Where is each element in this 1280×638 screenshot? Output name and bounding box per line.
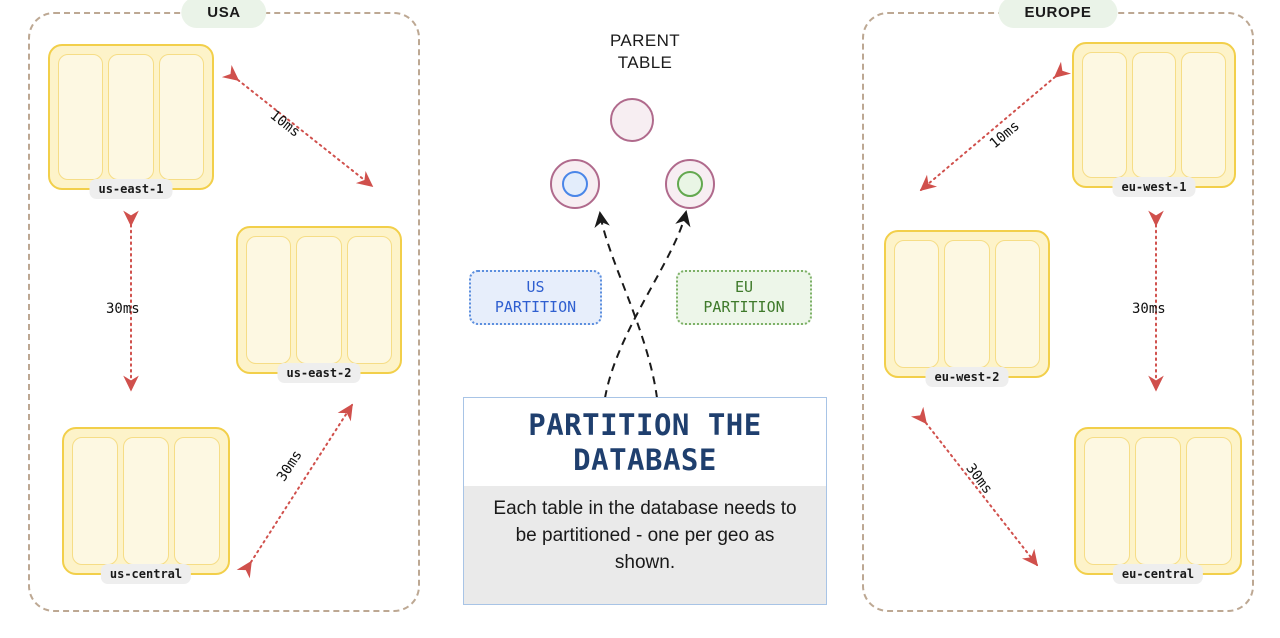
us-partition-node[interactable] (550, 159, 600, 209)
datacenter-label-us-east-1: us-east-1 (89, 179, 172, 199)
latency-label-eu-west-1--eu-central: 30ms (1132, 301, 1166, 317)
rack (123, 437, 169, 565)
rack (1084, 437, 1130, 565)
rack (995, 240, 1040, 368)
datacenter-us-east-2[interactable]: us-east-2 (236, 226, 402, 374)
callout-heading: PARTITION THE DATABASE (464, 398, 826, 486)
partition-arrow-us (600, 213, 657, 398)
rack (174, 437, 220, 565)
eu-partition-chip: EU PARTITION (676, 270, 812, 325)
rack (1135, 437, 1181, 565)
rack (1186, 437, 1232, 565)
datacenter-label-eu-central: eu-central (1113, 564, 1203, 584)
eu-partition-node[interactable] (665, 159, 715, 209)
callout-card: PARTITION THE DATABASE Each table in the… (463, 397, 827, 605)
datacenter-us-central[interactable]: us-central (62, 427, 230, 575)
callout-body: Each table in the database needs to be p… (464, 486, 826, 604)
rack (894, 240, 939, 368)
datacenter-eu-central[interactable]: eu-central (1074, 427, 1242, 575)
rack (246, 236, 291, 364)
region-label-europe: EUROPE (999, 0, 1118, 28)
parent-table-node[interactable] (610, 98, 654, 142)
region-label-usa: USA (181, 0, 266, 28)
rack (1132, 52, 1177, 178)
rack (347, 236, 392, 364)
partition-arrow-eu (605, 212, 686, 398)
rack (159, 54, 204, 180)
diagram-canvas: USA us-east-1 us-east-2 us-central EUROP… (0, 0, 1280, 638)
eu-partition-inner-circle (677, 171, 703, 197)
us-partition-inner-circle (562, 171, 588, 197)
rack (58, 54, 103, 180)
rack (1181, 52, 1226, 178)
rack (296, 236, 341, 364)
rack (944, 240, 989, 368)
datacenter-eu-west-2[interactable]: eu-west-2 (884, 230, 1050, 378)
datacenter-label-us-central: us-central (101, 564, 191, 584)
rack (108, 54, 153, 180)
datacenter-label-eu-west-1: eu-west-1 (1112, 177, 1195, 197)
rack (72, 437, 118, 565)
datacenter-us-east-1[interactable]: us-east-1 (48, 44, 214, 190)
datacenter-label-eu-west-2: eu-west-2 (925, 367, 1008, 387)
parent-table-title: PARENT TABLE (610, 30, 680, 74)
us-partition-chip: US PARTITION (469, 270, 602, 325)
datacenter-eu-west-1[interactable]: eu-west-1 (1072, 42, 1236, 188)
latency-label-us-east-1--us-central: 30ms (106, 301, 140, 317)
rack (1082, 52, 1127, 178)
datacenter-label-us-east-2: us-east-2 (277, 363, 360, 383)
